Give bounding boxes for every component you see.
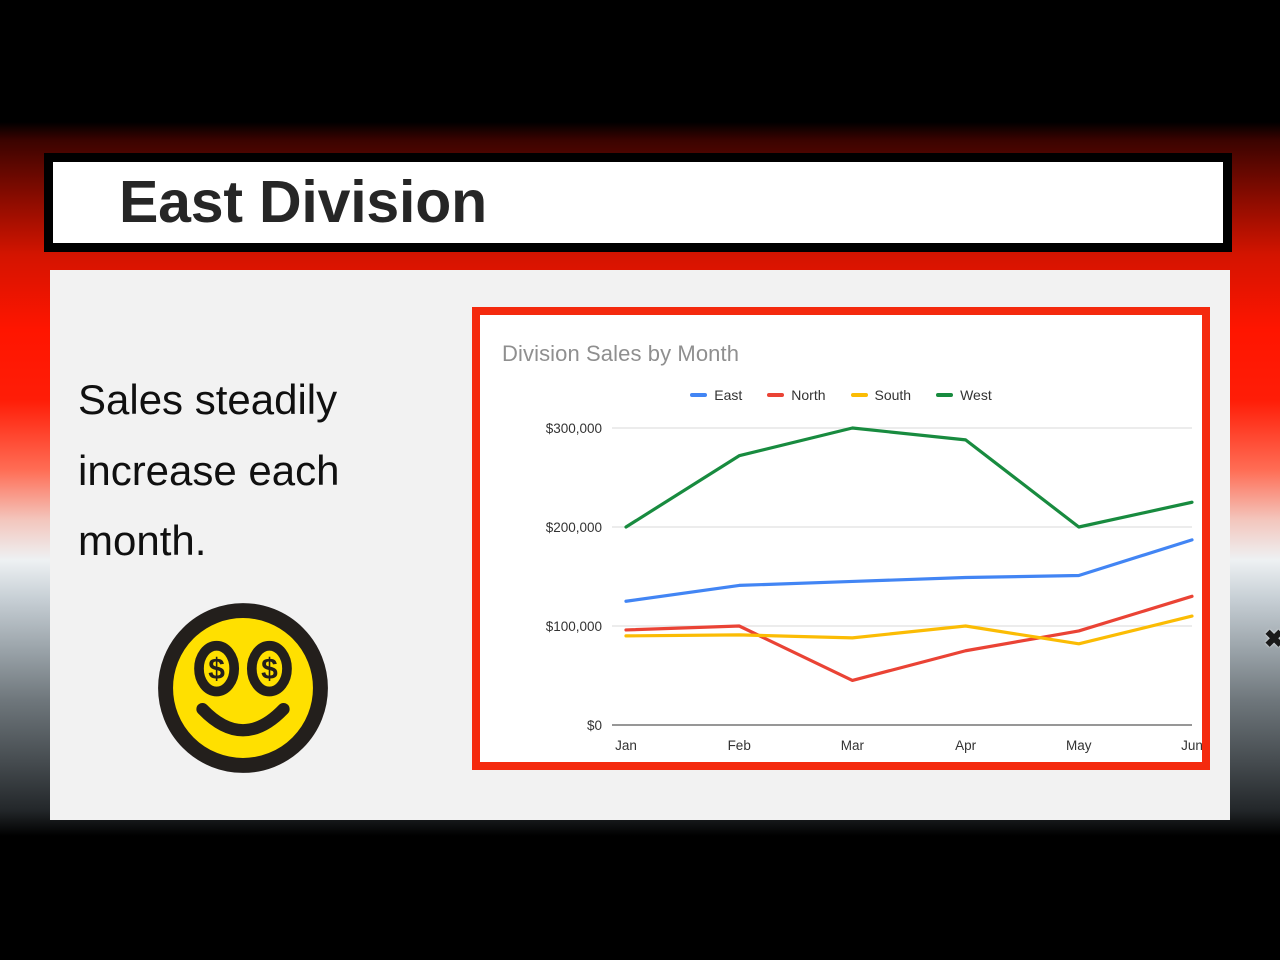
chart-inner: Division Sales by Month East North South (480, 315, 1202, 762)
smiley-right-eye-dollar: $ (261, 653, 278, 686)
x-axis-tick-label: May (1066, 738, 1092, 753)
chart-gridlines (612, 428, 1192, 725)
y-axis-tick-label: $100,000 (546, 619, 602, 634)
chart-y-axis-labels: $0$100,000$200,000$300,000 (546, 421, 602, 733)
slide-title-box: East Division (44, 153, 1232, 252)
money-face-smiley-icon: $ $ (155, 600, 331, 776)
y-axis-tick-label: $200,000 (546, 520, 602, 535)
x-axis-tick-label: Mar (841, 738, 865, 753)
chart-x-axis-labels: JanFebMarAprMayJun (615, 738, 1202, 753)
series-line-east[interactable] (626, 540, 1192, 601)
body-text: Sales steadily increase each month. (78, 365, 428, 577)
y-axis-tick-label: $0 (587, 718, 602, 733)
content-panel: Sales steadily increase each month. $ $ … (50, 270, 1230, 820)
line-chart-plot: $0$100,000$200,000$300,000 JanFebMarAprM… (480, 315, 1202, 762)
smiley-left-eye-dollar: $ (208, 653, 225, 686)
chart-card: Division Sales by Month East North South (472, 307, 1210, 770)
chart-series-lines (626, 428, 1192, 680)
x-axis-tick-label: Feb (728, 738, 751, 753)
series-line-west[interactable] (626, 428, 1192, 527)
slide-root: East Division Sales steadily increase ea… (0, 0, 1280, 960)
x-axis-tick-label: Jun (1181, 738, 1202, 753)
x-axis-tick-label: Jan (615, 738, 637, 753)
close-icon[interactable]: ✖ (1264, 628, 1280, 652)
x-axis-tick-label: Apr (955, 738, 977, 753)
page-title: East Division (53, 173, 487, 232)
y-axis-tick-label: $300,000 (546, 421, 602, 436)
series-line-south[interactable] (626, 616, 1192, 644)
